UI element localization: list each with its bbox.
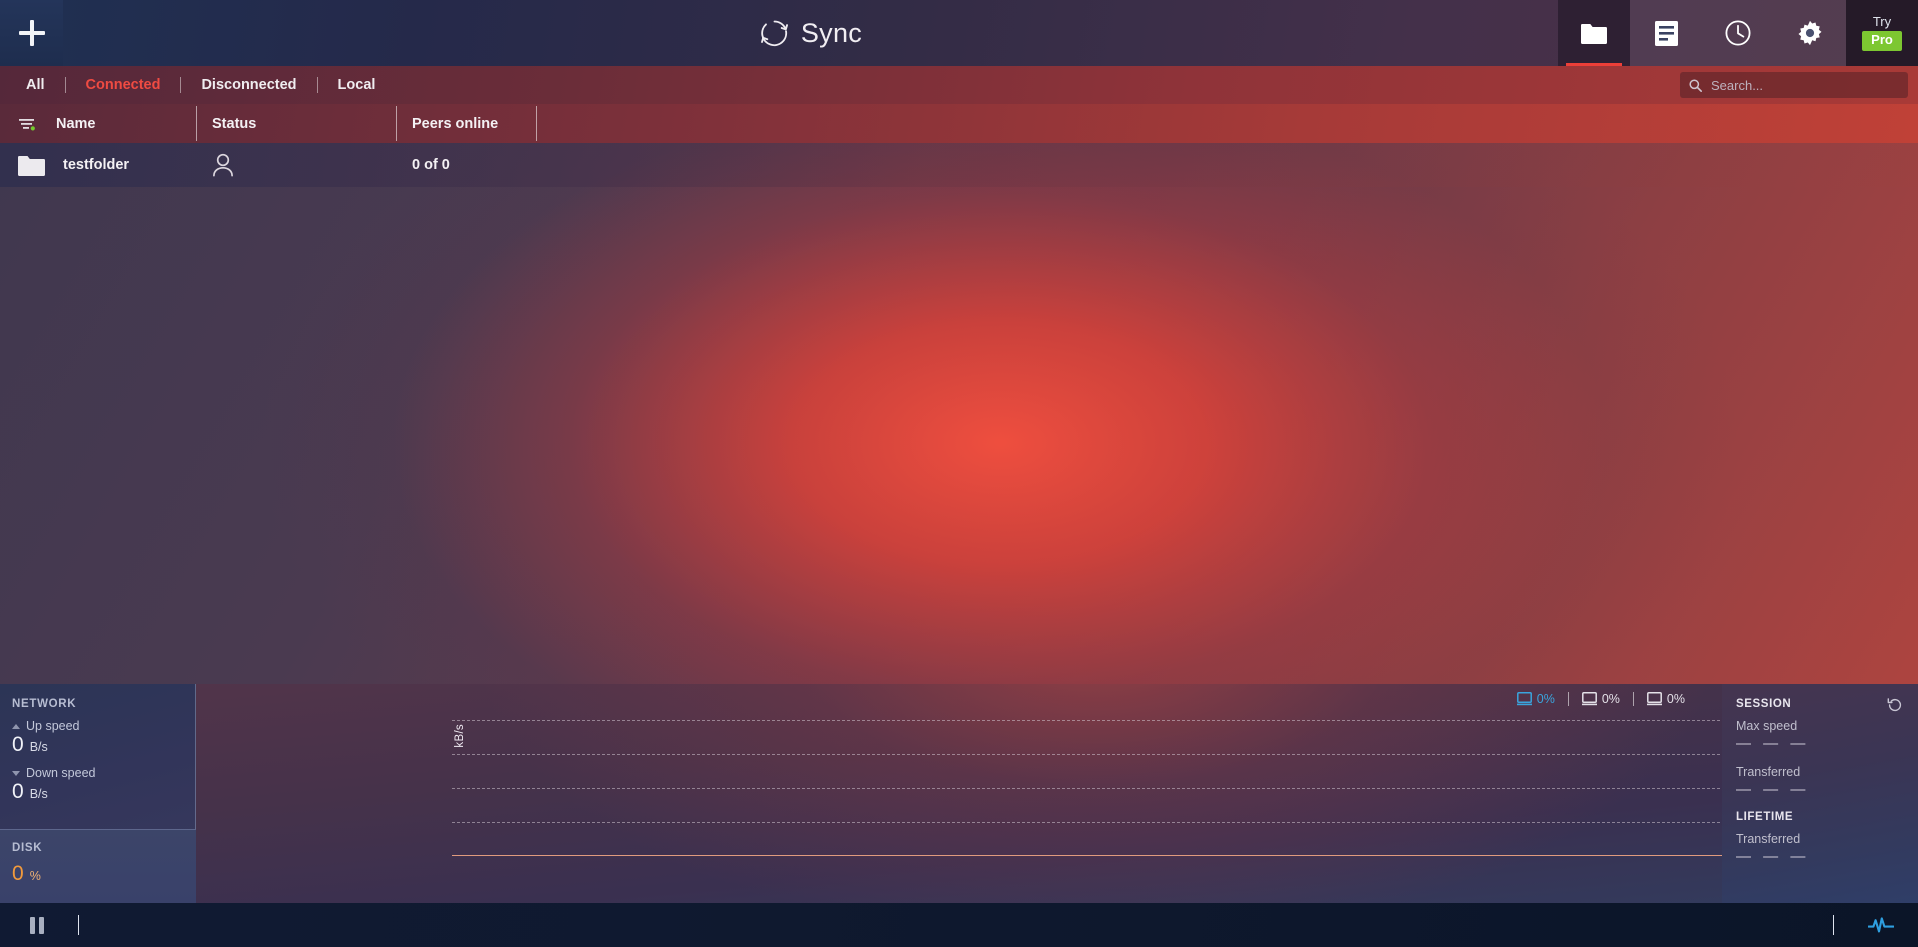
monitor-icon <box>1517 692 1532 706</box>
app-brand: Sync <box>63 0 1558 66</box>
row-peers-value: 0 of 0 <box>412 157 450 173</box>
try-pro-button[interactable]: Try Pro <box>1846 0 1918 66</box>
search-icon <box>1689 79 1702 92</box>
nav-icon-group: Try Pro <box>1558 0 1918 66</box>
gridline-75 <box>452 754 1722 755</box>
row-cell-name: testfolder <box>0 155 196 176</box>
session-stats-column: SESSION Max speed — — — Transferred — — … <box>1722 684 1918 903</box>
folders-tab[interactable] <box>1558 0 1630 66</box>
folder-list-area: testfolder 0 of 0 <box>0 143 1918 684</box>
session-max-speed-label: Max speed <box>1736 719 1918 733</box>
row-cell-peers: 0 of 0 <box>396 157 536 173</box>
triangle-down-icon <box>12 771 20 776</box>
search-box[interactable] <box>1680 72 1908 98</box>
lifetime-title: LIFETIME <box>1736 811 1918 823</box>
session-max-speed-value: — — — <box>1736 735 1918 753</box>
disk-title: DISK <box>12 842 196 854</box>
cpu-indicator-2: 0% <box>1569 692 1633 706</box>
column-header-name[interactable]: Name <box>0 104 196 143</box>
cpu-indicator-1: 0% <box>1504 692 1568 706</box>
network-stats: NETWORK Up speed 0 B/s Down speed 0 B/s <box>0 684 195 802</box>
table-header: Name Status Peers online <box>0 104 1918 143</box>
network-stats-column: NETWORK Up speed 0 B/s Down speed 0 B/s <box>0 684 196 903</box>
search-input[interactable] <box>1711 78 1899 93</box>
disk-value-row: 0 % <box>12 863 196 884</box>
pause-icon <box>30 917 35 934</box>
row-folder-name: testfolder <box>63 157 129 173</box>
row-cell-status <box>196 153 396 177</box>
clock-icon <box>1725 20 1751 46</box>
activity-button[interactable] <box>1860 910 1902 940</box>
session-transferred-label: Transferred <box>1736 765 1918 779</box>
gridline-25 <box>452 822 1722 823</box>
folder-icon <box>1581 23 1607 44</box>
gridline-100 <box>452 720 1722 721</box>
filter-connected[interactable]: Connected <box>66 78 181 93</box>
transfers-tab[interactable] <box>1630 0 1702 66</box>
history-tab[interactable] <box>1702 0 1774 66</box>
pro-badge: Pro <box>1862 31 1902 51</box>
activity-pulse-icon <box>1868 916 1894 934</box>
gear-icon <box>1797 20 1823 46</box>
disk-value: 0 <box>12 863 24 884</box>
table-row[interactable]: testfolder 0 of 0 <box>0 143 1918 187</box>
up-speed-value-row: 0 B/s <box>12 734 195 755</box>
search-container <box>1680 72 1908 98</box>
disk-stats: DISK 0 % <box>0 829 196 903</box>
filter-bar: All Connected Disconnected Local <box>0 66 1918 104</box>
up-speed-value: 0 <box>12 734 24 755</box>
column-header-peers-label: Peers online <box>412 116 498 132</box>
chart-y-axis-label: kB/s <box>454 724 466 748</box>
sync-app-window: Sync <box>0 0 1918 947</box>
network-title: NETWORK <box>12 698 195 710</box>
down-speed-value-row: 0 B/s <box>12 781 195 802</box>
chart-series-line <box>452 855 1722 856</box>
down-speed-unit: B/s <box>30 787 48 801</box>
filter-disconnected[interactable]: Disconnected <box>181 78 316 93</box>
gridline-50 <box>452 788 1722 789</box>
lifetime-transferred-value: — — — <box>1736 848 1918 866</box>
settings-tab[interactable] <box>1774 0 1846 66</box>
sort-filter-icon[interactable] <box>18 117 36 131</box>
up-speed-unit: B/s <box>30 740 48 754</box>
folder-icon <box>18 155 45 176</box>
add-folder-button[interactable] <box>0 0 63 66</box>
column-header-peers[interactable]: Peers online <box>396 104 536 143</box>
column-header-spacer <box>536 104 1918 143</box>
cpu-percent-1: 0% <box>1537 692 1555 706</box>
stats-panel: NETWORK Up speed 0 B/s Down speed 0 B/s <box>0 684 1918 903</box>
column-header-status-label: Status <box>212 116 256 132</box>
down-speed-row: Down speed <box>12 766 195 780</box>
filter-local[interactable]: Local <box>318 78 396 93</box>
pause-button[interactable] <box>18 910 56 940</box>
reset-arrow-icon[interactable] <box>1886 696 1904 714</box>
lifetime-transferred-label: Transferred <box>1736 832 1918 846</box>
up-speed-label: Up speed <box>26 719 80 733</box>
down-speed-value: 0 <box>12 781 24 802</box>
plus-icon <box>19 20 45 46</box>
up-speed-row: Up speed <box>12 719 195 733</box>
column-header-status[interactable]: Status <box>196 104 396 143</box>
pause-icon <box>39 917 44 934</box>
monitor-icon <box>1647 692 1662 706</box>
cpu-percent-2: 0% <box>1602 692 1620 706</box>
document-list-icon <box>1655 21 1678 46</box>
bottom-status-bar <box>0 903 1918 947</box>
filter-group: All Connected Disconnected Local <box>0 77 395 93</box>
chart-plot-area <box>452 720 1722 856</box>
cpu-indicator-group: 0% 0% 0% <box>1504 692 1698 706</box>
cpu-percent-3: 0% <box>1667 692 1685 706</box>
triangle-up-icon <box>12 724 20 729</box>
disk-unit: % <box>30 869 41 883</box>
app-title: Sync <box>801 18 862 49</box>
person-icon <box>212 153 234 177</box>
filter-all[interactable]: All <box>6 78 65 93</box>
session-transferred-value: — — — <box>1736 781 1918 799</box>
try-label: Try <box>1873 15 1891 28</box>
monitor-icon <box>1582 692 1597 706</box>
bottom-divider <box>78 915 79 935</box>
cpu-indicator-3: 0% <box>1634 692 1698 706</box>
bottom-right-group <box>1833 910 1918 940</box>
sync-circular-arrows-icon <box>759 18 790 49</box>
bottom-divider <box>1833 915 1834 935</box>
top-navigation-bar: Sync <box>0 0 1918 66</box>
bandwidth-chart: 0% 0% 0% <box>196 684 1722 903</box>
column-header-name-label: Name <box>56 116 96 132</box>
down-speed-label: Down speed <box>26 766 96 780</box>
